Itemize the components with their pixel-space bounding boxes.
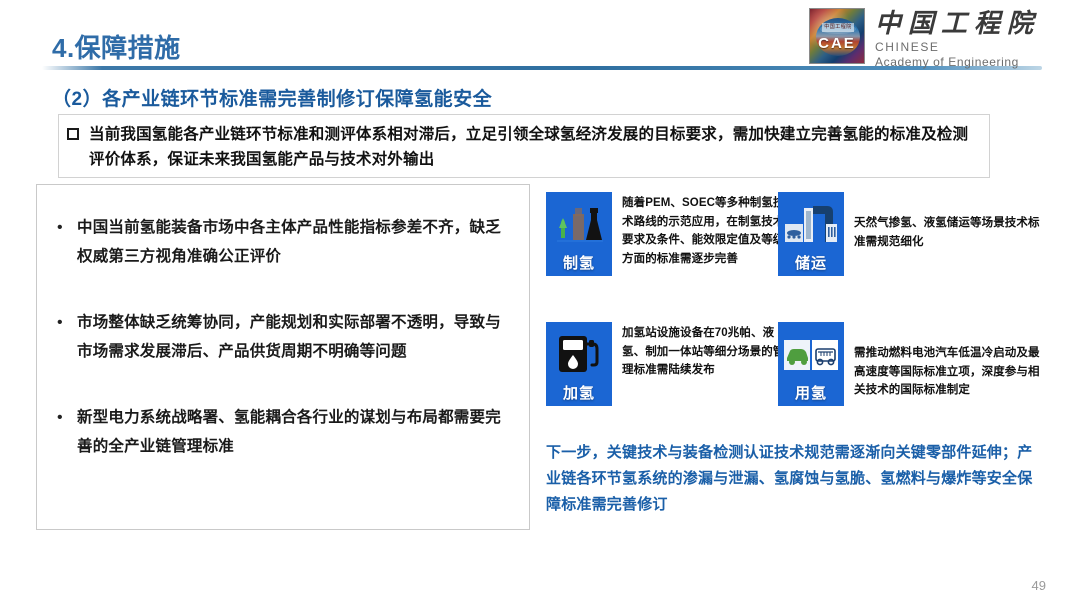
list-item: • 市场整体缺乏统筹协同，产能规划和实际部署不透明，导致与市场需求发展滞后、产品… <box>47 308 511 367</box>
cae-logo: 中国工程院 CAE 中国工程院 CHINESE Academy of Engin… <box>809 8 1040 69</box>
chain-cell-refueling: 加氢 加氢站设施设备在70兆帕、液氢、制加一体站等细分场景的管理标准需陆续发布 <box>546 322 786 406</box>
tile-usage: 用氢 <box>778 322 844 406</box>
summary-note: 下一步，关键技术与装备检测认证技术规范需逐渐向关键零部件延伸；产业链各环节氢系统… <box>546 440 1046 517</box>
bullet-dot-icon: • <box>47 308 77 338</box>
hydrogen-use-vehicles-icon <box>783 328 839 382</box>
hydrogen-storage-transport-icon <box>783 198 839 252</box>
list-item-text: 市场整体缺乏统筹协同，产能规划和实际部署不透明，导致与市场需求发展滞后、产品供货… <box>77 308 511 367</box>
chain-cell-production: 制氢 随着PEM、SOEC等多种制氢技术路线的示范应用，在制氢技术要求及条件、能… <box>546 192 786 276</box>
logo-text-block: 中国工程院 CHINESE Academy of Engineering <box>875 8 1040 69</box>
statement-box: 当前我国氢能各产业链环节标准和测评体系相对滞后，立足引领全球氢经济发展的目标要求… <box>58 114 990 178</box>
logo-english-line1: CHINESE <box>875 40 1040 54</box>
hydrogen-chain-grid: 制氢 随着PEM、SOEC等多种制氢技术路线的示范应用，在制氢技术要求及条件、能… <box>546 192 1046 432</box>
section-subtitle: （2）各产业链环节标准需完善制修订保障氢能安全 <box>52 84 492 111</box>
tile-production: 制氢 <box>546 192 612 276</box>
logo-mark-inner-text: 中国工程院 <box>822 23 854 32</box>
logo-english-line2: Academy of Engineering <box>875 55 1040 69</box>
statement-text: 当前我国氢能各产业链环节标准和测评体系相对滞后，立足引领全球氢经济发展的目标要求… <box>89 122 979 172</box>
logo-cae-text: CAE <box>810 35 864 52</box>
tile-label-storage: 储运 <box>778 252 844 273</box>
list-item: • 新型电力系统战略署、氢能耦合各行业的谋划与布局都需要完善的全产业链管理标准 <box>47 403 511 462</box>
chain-cell-usage: 用氢 需推动燃料电池汽车低温冷启动及最高速度等国际标准立项，深度参与相关技术的国… <box>778 322 1046 406</box>
tile-label-refueling: 加氢 <box>546 382 612 403</box>
tile-label-usage: 用氢 <box>778 382 844 403</box>
slide: 4.保障措施 中国工程院 CAE 中国工程院 CHINESE Academy o… <box>0 0 1080 607</box>
bullet-dot-icon: • <box>47 403 77 433</box>
logo-chinese-name: 中国工程院 <box>875 10 1040 37</box>
chain-cell-storage: 储运 天然气掺氢、液氢储运等场景技术标准需规范细化 <box>778 192 1046 276</box>
hydrogen-refueling-icon <box>551 328 607 382</box>
list-item-text: 中国当前氢能装备市场中各主体产品性能指标参差不齐，缺乏权威第三方视角准确公正评价 <box>77 213 511 272</box>
hydrogen-production-icon <box>551 198 607 252</box>
slide-header: 4.保障措施 中国工程院 CAE 中国工程院 CHINESE Academy o… <box>0 0 1080 76</box>
list-item-text: 新型电力系统战略署、氢能耦合各行业的谋划与布局都需要完善的全产业链管理标准 <box>77 403 511 462</box>
square-bullet-icon <box>67 128 79 140</box>
chain-cell-text-storage: 天然气掺氢、液氢储运等场景技术标准需规范细化 <box>854 192 1046 251</box>
bullet-dot-icon: • <box>47 213 77 243</box>
tile-refueling: 加氢 <box>546 322 612 406</box>
tile-storage: 储运 <box>778 192 844 276</box>
chain-cell-text-refueling: 加氢站设施设备在70兆帕、液氢、制加一体站等细分场景的管理标准需陆续发布 <box>622 322 786 380</box>
list-item: • 中国当前氢能装备市场中各主体产品性能指标参差不齐，缺乏权威第三方视角准确公正… <box>47 213 511 272</box>
chain-cell-text-production: 随着PEM、SOEC等多种制氢技术路线的示范应用，在制氢技术要求及条件、能效限定… <box>622 192 786 269</box>
page-title: 4.保障措施 <box>52 28 181 65</box>
cae-logo-mark-icon: 中国工程院 CAE <box>809 8 865 64</box>
left-issues-panel: • 中国当前氢能装备市场中各主体产品性能指标参差不齐，缺乏权威第三方视角准确公正… <box>36 184 530 530</box>
page-number: 49 <box>1032 578 1046 593</box>
tile-label-production: 制氢 <box>546 252 612 273</box>
chain-cell-text-usage: 需推动燃料电池汽车低温冷启动及最高速度等国际标准立项，深度参与相关技术的国际标准… <box>854 322 1046 400</box>
